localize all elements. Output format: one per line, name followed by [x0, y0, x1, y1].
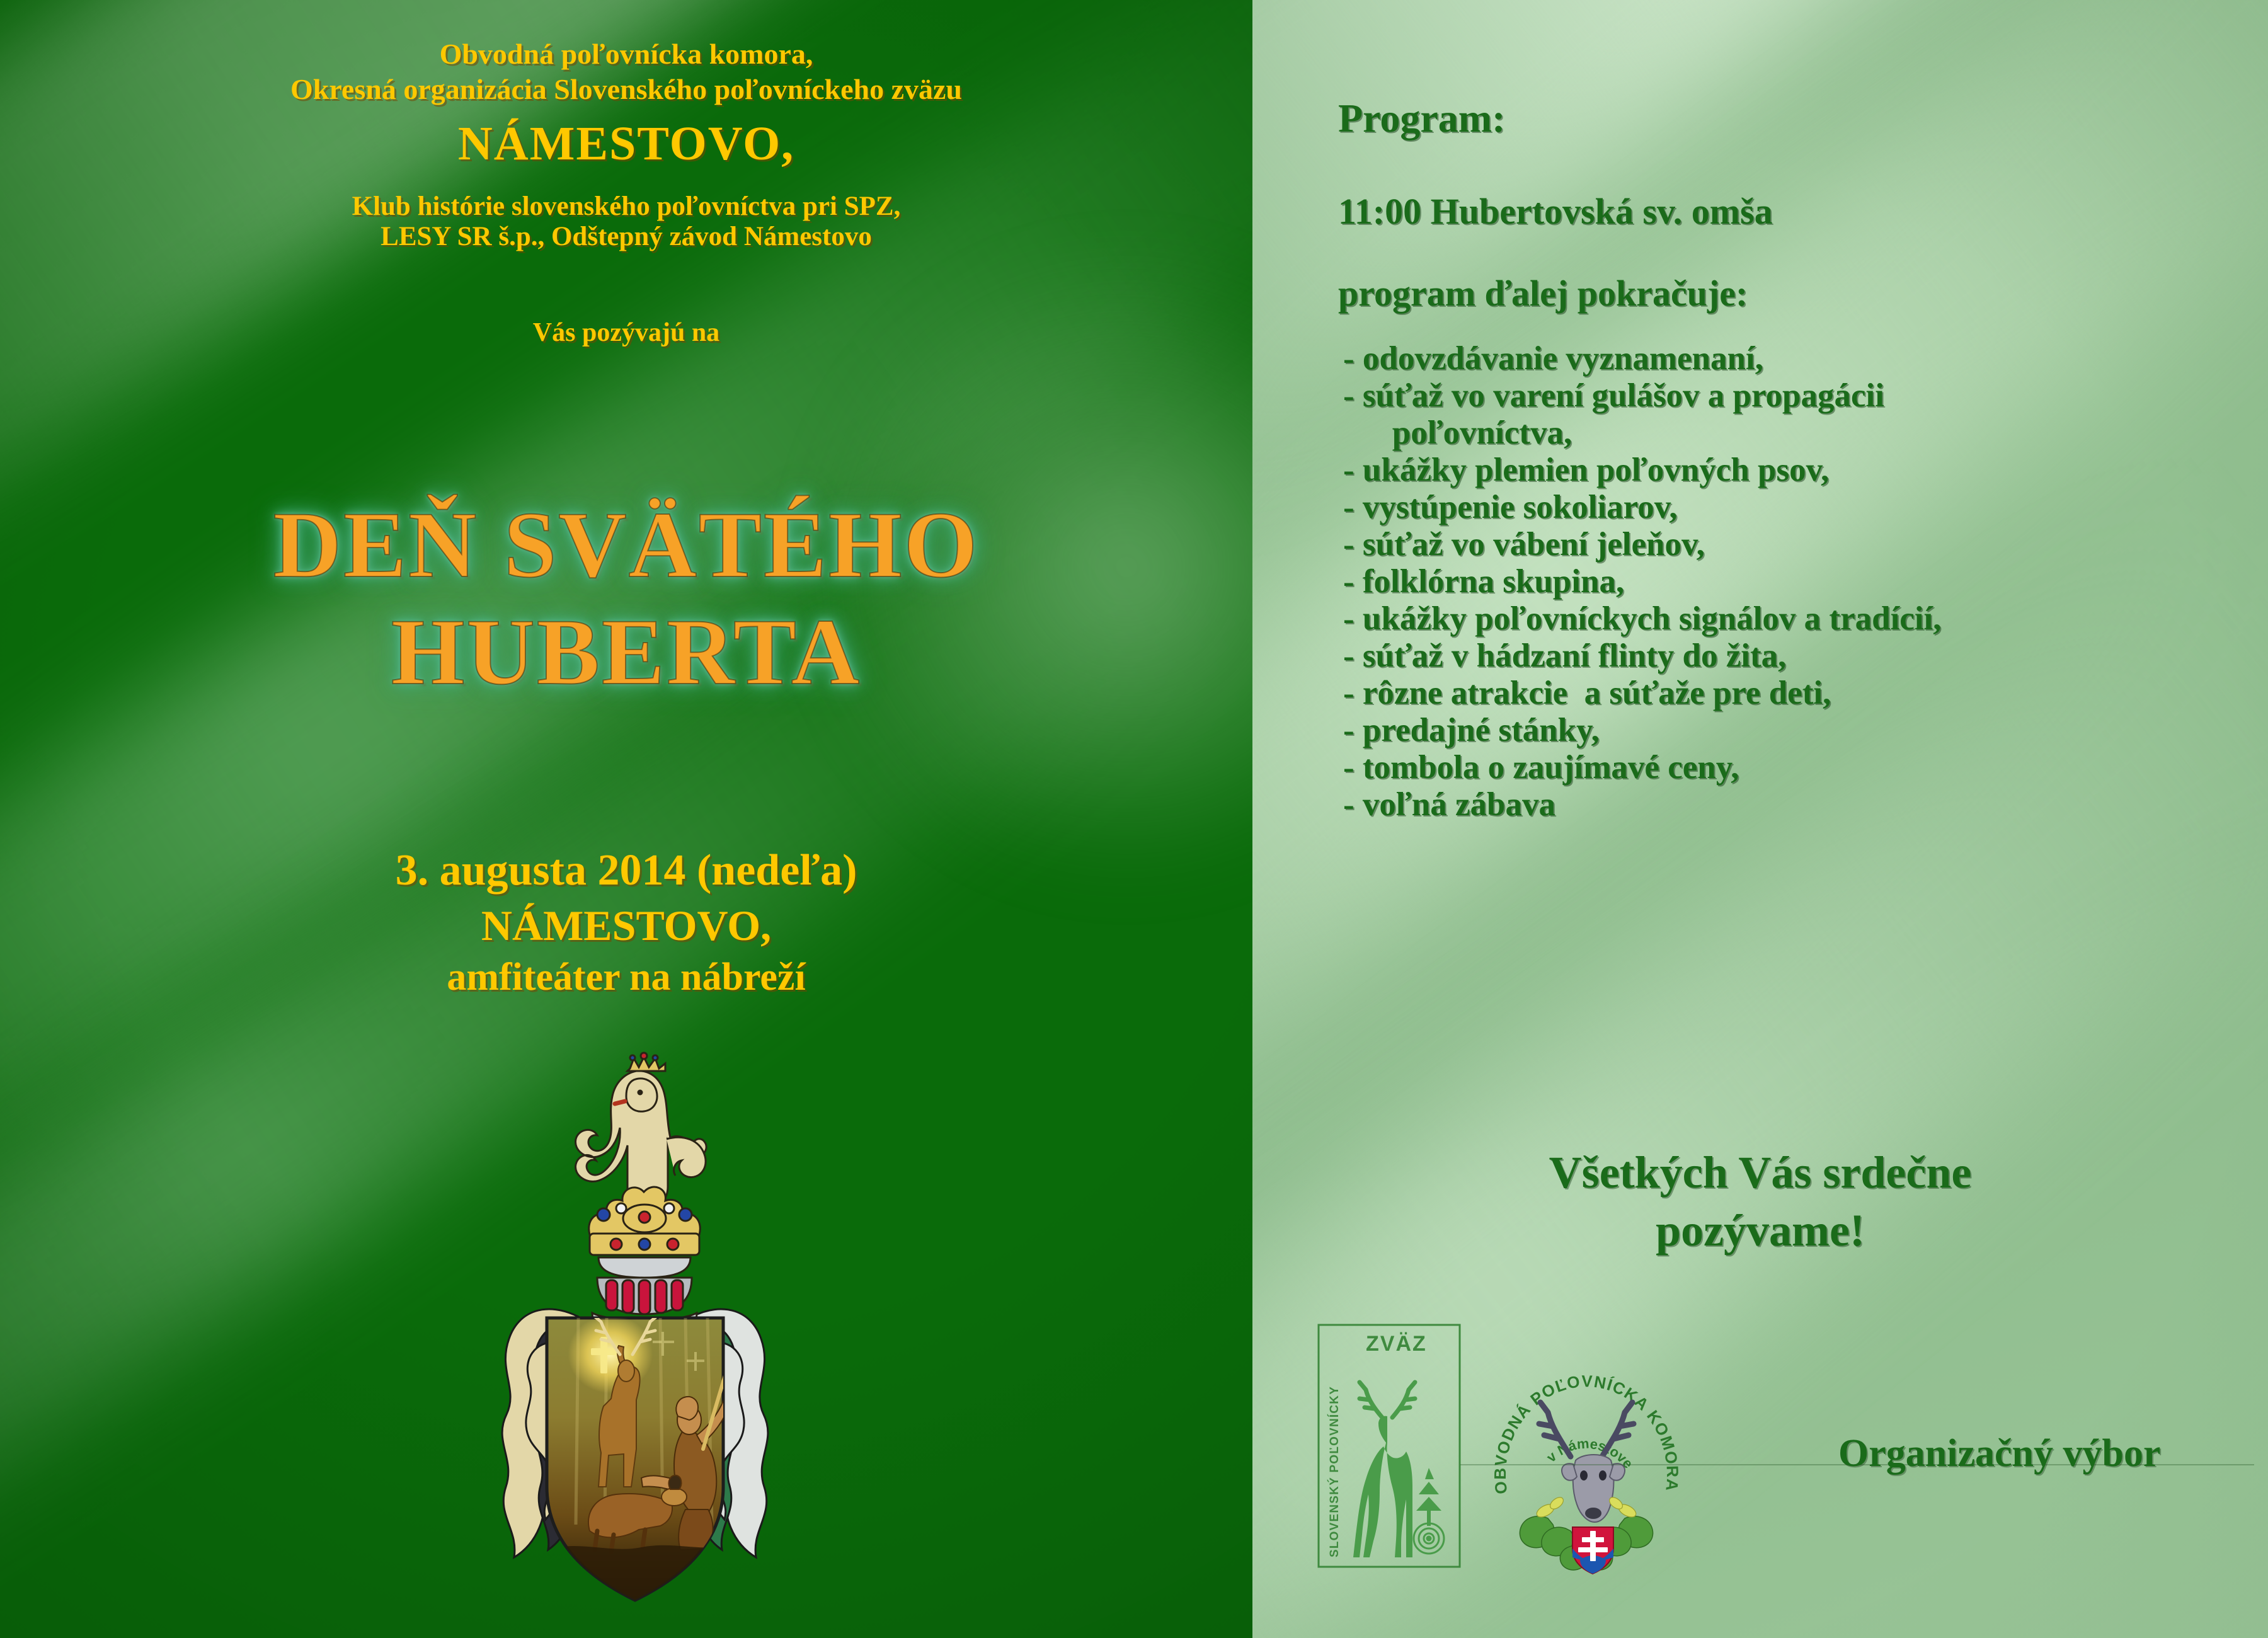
organizer-city: NÁMESTOVO, [0, 113, 1252, 174]
program-list: - odovzdávanie vyznamenaní,- súťaž vo va… [1334, 340, 2260, 823]
slovensky-polovnicky-zvaz-logo: ZVÄZ SLOVENSKÝ POĽOVNÍCKY [1317, 1323, 1462, 1569]
left-panel: Obvodná poľovnícka komora, Okresná organ… [0, 0, 1252, 1638]
program-list-item: - ukážky poľovníckych signálov a tradíci… [1334, 600, 2260, 638]
spruce-target-icon [1416, 1468, 1441, 1526]
program-list-item: - súťaž vo vábení jeleňov, [1334, 526, 2260, 563]
welcome-message: Všetkých Vás srdečne pozývame! [1252, 1143, 2268, 1259]
poster-root: Obvodná poľovnícka komora, Okresná organ… [0, 0, 2268, 1638]
spz-side-word: SLOVENSKÝ POĽOVNÍCKY [1327, 1386, 1341, 1557]
event-city: NÁMESTOVO, [0, 900, 1252, 951]
program-list-item: - odovzdávanie vyznamenaní, [1334, 340, 2260, 377]
main-title-line-1: DEŇ SVÄTÉHO [0, 498, 1252, 592]
event-venue: amfiteáter na nábreží [0, 953, 1252, 1002]
organizer-line-4: LESY SR š.p., Odštepný závod Námestovo [0, 219, 1252, 255]
program-list-item: - vystúpenie sokoliarov, [1334, 489, 2260, 526]
welcome-line-1: Všetkých Vás srdečne [1252, 1143, 2268, 1201]
program-list-item: - súťaž v hádzaní flinty do žita, [1334, 638, 2260, 675]
main-title-line-2: HUBERTA [0, 605, 1252, 699]
program-list-item: - folklórna skupina, [1334, 563, 2260, 600]
target-icon [1414, 1523, 1444, 1554]
program-list-item: - tombola o zaujímavé ceny, [1334, 749, 2260, 786]
crest-lion [575, 1053, 706, 1208]
program-list-item: - súťaž vo varení gulášov a propagácii p… [1334, 377, 2260, 452]
left-content: Obvodná poľovnícka komora, Okresná organ… [0, 0, 1252, 1638]
program-list-item: - predajné stánky, [1334, 712, 2260, 749]
program-list-item: - ukážky plemien poľovných psov, [1334, 452, 2260, 489]
saint-hubert-coat-of-arms [389, 1046, 881, 1632]
shield-saint-hubert [547, 1315, 733, 1600]
invitation-line: Vás pozývajú na [0, 315, 1252, 350]
right-panel: Program: 11:00 Hubertovská sv. omša prog… [1252, 0, 2268, 1638]
program-list-item: - voľná zábava [1334, 786, 2260, 823]
spz-top-word: ZVÄZ [1366, 1332, 1427, 1356]
program-list-item: - rôzne atrakcie a súťaže pre deti, [1334, 675, 2260, 712]
coronet [589, 1187, 701, 1255]
deer-silhouette-icon [1353, 1382, 1415, 1557]
welcome-line-2: pozývame! [1252, 1201, 2268, 1259]
program-continues-heading: program ďalej pokračuje: [1338, 271, 1748, 316]
event-date: 3. augusta 2014 (nedeľa) [0, 844, 1252, 897]
right-content: Program: 11:00 Hubertovská sv. omša prog… [1252, 0, 2268, 1638]
lion-crown [627, 1053, 665, 1071]
organizer-line-2: Okresná organizácia Slovenského poľovníc… [0, 71, 1252, 108]
organizer-line-1: Obvodná poľovnícka komora, [0, 35, 1252, 73]
program-mass-time: 11:00 Hubertovská sv. omša [1338, 189, 1773, 234]
obvodna-polovnicka-komora-logo: OBVODNÁ POĽOVNÍCKA KOMORA v Námestove [1482, 1310, 1690, 1575]
organizing-committee-signature: Organizačný výbor [1838, 1429, 2160, 1478]
program-heading: Program: [1338, 94, 1505, 142]
